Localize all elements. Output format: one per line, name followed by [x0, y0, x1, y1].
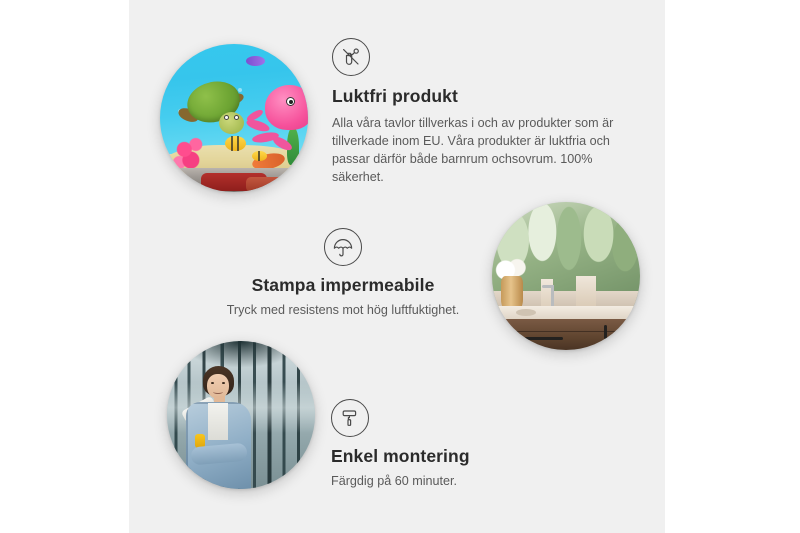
soap-dispenser — [576, 276, 595, 309]
feature-title: Enkel montering — [331, 446, 571, 467]
red-sofa-arm — [246, 177, 284, 192]
forest-canopy — [167, 341, 315, 379]
turtle-eye — [234, 115, 239, 120]
octopus-eye — [286, 97, 295, 106]
turtle-eye — [224, 115, 229, 120]
undersea-cartoon-mural-photo — [160, 44, 308, 192]
feature-body: Alla våra tavlor tillverkas i och av pro… — [332, 114, 628, 186]
feature-easy-install: Enkel montering Färgdig på 60 minuter. — [331, 399, 571, 490]
paint-roller-icon — [331, 399, 369, 437]
wood-cabinet — [492, 319, 640, 350]
octopus-body — [265, 85, 308, 129]
woman-paint-roller-forest-photo — [167, 341, 315, 489]
bathroom-leaf-wallpaper-photo — [492, 202, 640, 350]
feature-title: Luktfri produkt — [332, 86, 628, 107]
feature-waterproof: Stampa impermeabile Tryck med resistens … — [213, 228, 473, 319]
woman-inner-top — [208, 403, 227, 440]
feature-infographic: Luktfri produkt Alla våra tavlor tillver… — [0, 0, 800, 533]
soap-dish — [516, 309, 537, 316]
yellow-fish — [252, 151, 267, 161]
feature-odourless: Luktfri produkt Alla våra tavlor tillver… — [332, 38, 628, 186]
feature-title: Stampa impermeabile — [213, 275, 473, 296]
no-spray-bottle-icon — [332, 38, 370, 76]
feature-body: Färgdig på 60 minuter. — [331, 472, 571, 490]
umbrella-icon — [324, 228, 362, 266]
yellow-fish — [225, 136, 246, 151]
feature-body: Tryck med resistens mot hög luftfuktighe… — [213, 301, 473, 319]
